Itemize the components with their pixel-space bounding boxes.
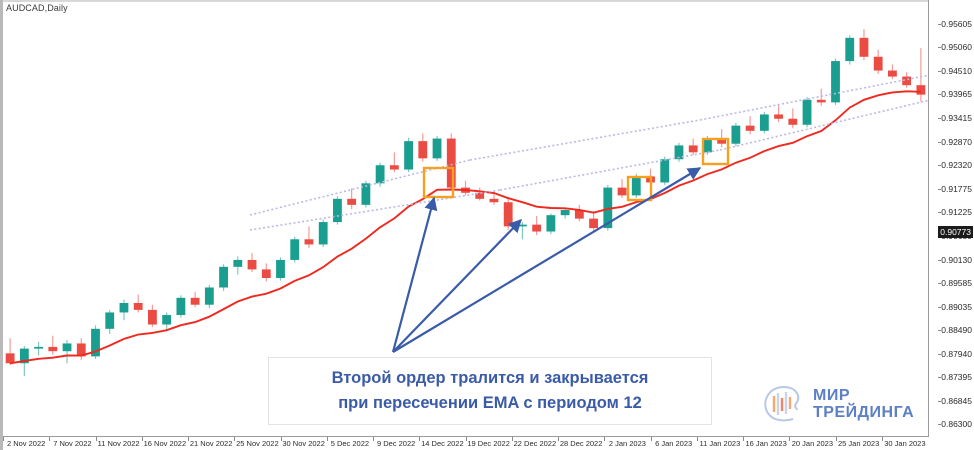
time-tick-label: 11 Jan 2023 xyxy=(700,439,741,448)
time-tick-label: 19 Dec 2022 xyxy=(467,439,510,448)
time-tick-label: 14 Dec 2022 xyxy=(421,439,464,448)
price-tick-mark xyxy=(938,354,941,355)
time-tick-mark xyxy=(49,437,50,441)
time-tick-label: 22 Dec 2022 xyxy=(514,439,557,448)
price-tick-label: 0.94510 xyxy=(941,66,972,76)
price-tick-mark xyxy=(938,330,941,331)
price-tick-mark xyxy=(938,165,941,166)
time-tick-mark xyxy=(373,437,374,441)
window-top-border xyxy=(0,0,974,2)
trend-guide-upper-c xyxy=(700,75,928,120)
callout-arrow-1 xyxy=(393,198,434,352)
price-tick-label: 0.89035 xyxy=(941,302,972,312)
price-tick-label: 0.93415 xyxy=(941,113,972,123)
brand-line2: ТРЕЙДИНГА xyxy=(813,404,914,421)
price-tick-mark xyxy=(938,47,941,48)
trend-guide-lower-a xyxy=(250,190,500,230)
time-tick-mark xyxy=(96,437,97,441)
head-candles-icon xyxy=(762,384,806,424)
price-tick-mark xyxy=(938,142,941,143)
order-box-3[interactable] xyxy=(703,139,728,164)
trend-guide-lower-b xyxy=(500,150,720,190)
order-box-1[interactable] xyxy=(424,168,453,197)
price-tick-label: 0.91225 xyxy=(941,207,972,217)
price-tick-label: 0.92870 xyxy=(941,137,972,147)
time-tick-label: 5 Dec 2022 xyxy=(331,439,369,448)
price-tick-label: 0.87940 xyxy=(941,349,972,359)
time-tick-label: 2 Jan 2023 xyxy=(609,439,646,448)
price-tick-mark xyxy=(938,189,941,190)
time-tick-mark xyxy=(512,437,513,441)
time-tick-mark xyxy=(3,437,4,441)
time-tick-label: 6 Jan 2023 xyxy=(655,439,692,448)
time-tick-mark xyxy=(419,437,420,441)
time-tick-label: 20 Jan 2023 xyxy=(792,439,833,448)
price-tick-label: 0.89585 xyxy=(941,278,972,288)
annotation-note: Второй ордер тралится и закрывается при … xyxy=(268,357,712,425)
time-tick-label: 25 Jan 2023 xyxy=(838,439,879,448)
time-tick-label: 30 Nov 2022 xyxy=(282,439,325,448)
price-tick-mark xyxy=(938,283,941,284)
time-tick-mark xyxy=(743,437,744,441)
price-tick-mark xyxy=(938,118,941,119)
price-tick-label: 0.93965 xyxy=(941,89,972,99)
time-tick-mark xyxy=(789,437,790,441)
brand-watermark: МИР ТРЕЙДИНГА xyxy=(762,381,940,427)
price-tick-label: 0.95605 xyxy=(941,19,972,29)
price-tick-mark xyxy=(938,71,941,72)
price-tick-label: 0.86845 xyxy=(941,396,972,406)
time-tick-mark xyxy=(882,437,883,441)
annotation-note-line2: при пересечении EMA с периодом 12 xyxy=(338,391,642,416)
time-tick-mark xyxy=(234,437,235,441)
current-price-label: 0.90773 xyxy=(938,226,973,238)
trend-guide-lower-c xyxy=(720,100,928,150)
time-tick-label: 2 Nov 2022 xyxy=(7,439,45,448)
time-tick-mark xyxy=(142,437,143,441)
time-axis[interactable]: 2 Nov 20227 Nov 202211 Nov 202216 Nov 20… xyxy=(3,436,928,450)
price-tick-mark xyxy=(938,307,941,308)
time-tick-label: 16 Jan 2023 xyxy=(745,439,786,448)
price-tick-mark xyxy=(938,377,941,378)
price-axis[interactable]: 0.956050.950600.945100.939650.934150.928… xyxy=(928,0,974,437)
price-tick-label: 0.91775 xyxy=(941,184,972,194)
price-tick-mark xyxy=(938,24,941,25)
price-tick-label: 0.86300 xyxy=(941,419,972,429)
price-tick-label: 0.95060 xyxy=(941,42,972,52)
price-tick-label: 0.87395 xyxy=(941,372,972,382)
price-tick-label: 0.90130 xyxy=(941,255,972,265)
brand-watermark-text: МИР ТРЕЙДИНГА xyxy=(813,387,914,421)
price-tick-mark xyxy=(938,260,941,261)
time-tick-label: 21 Nov 2022 xyxy=(190,439,233,448)
order-box-2[interactable] xyxy=(628,177,651,200)
time-tick-label: 30 Jan 2023 xyxy=(884,439,925,448)
price-tick-label: 0.92320 xyxy=(941,160,972,170)
callout-arrow-3 xyxy=(393,168,700,352)
price-tick-label: 0.88490 xyxy=(941,325,972,335)
trend-guide-upper-b xyxy=(470,120,700,160)
time-tick-label: 9 Dec 2022 xyxy=(377,439,415,448)
time-tick-label: 28 Dec 2022 xyxy=(560,439,603,448)
chart-screenshot: AUDCAD,Daily 0.956050.950600.945100.9396… xyxy=(0,0,974,450)
time-tick-mark xyxy=(651,437,652,441)
time-tick-mark xyxy=(558,437,559,441)
time-tick-mark xyxy=(466,437,467,441)
price-tick-mark xyxy=(938,212,941,213)
time-tick-label: 7 Nov 2022 xyxy=(53,439,91,448)
annotation-note-line1: Второй ордер тралится и закрывается xyxy=(332,366,649,391)
time-tick-mark xyxy=(327,437,328,441)
time-tick-mark xyxy=(604,437,605,441)
time-tick-mark xyxy=(836,437,837,441)
time-tick-label: 25 Nov 2022 xyxy=(236,439,279,448)
time-tick-label: 16 Nov 2022 xyxy=(144,439,187,448)
time-tick-label: 11 Nov 2022 xyxy=(98,439,140,448)
time-tick-mark xyxy=(697,437,698,441)
price-tick-mark xyxy=(938,94,941,95)
brand-line1: МИР xyxy=(813,387,914,404)
time-tick-mark xyxy=(188,437,189,441)
time-tick-mark xyxy=(281,437,282,441)
